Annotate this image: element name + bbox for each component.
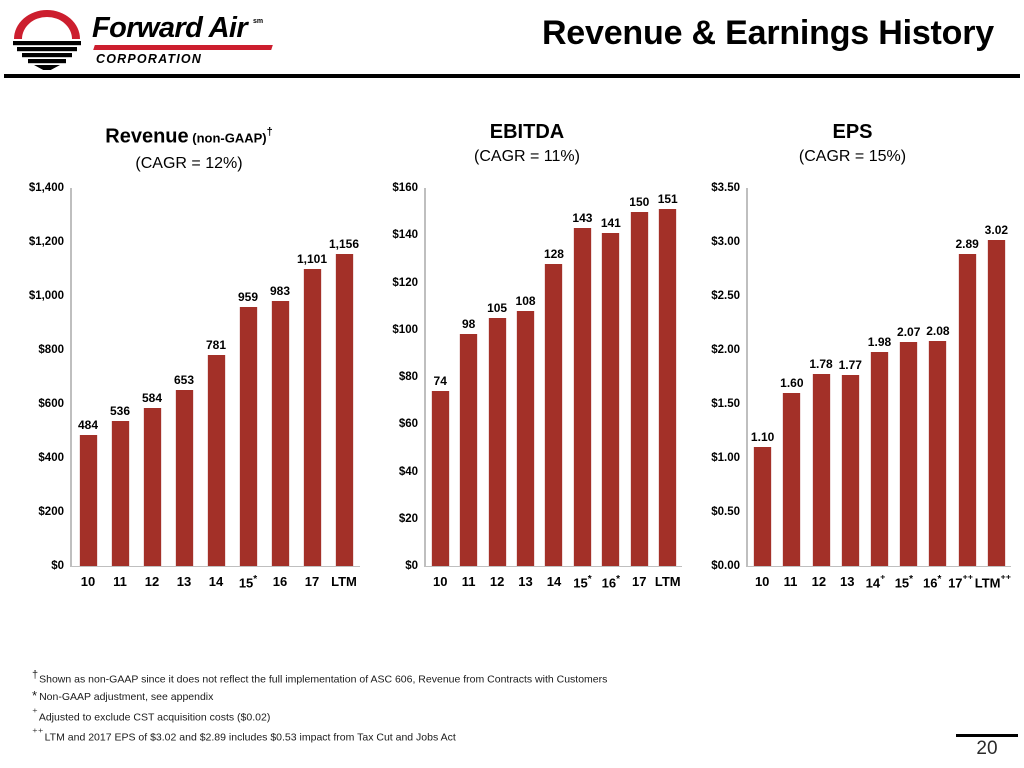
x-axis-tick-label: LTM⁺⁺ — [975, 574, 1011, 590]
bar[interactable] — [488, 318, 507, 566]
logo-servicemark: sm — [253, 18, 263, 25]
bar-slot: 1,156 — [328, 188, 360, 566]
page-number: 20 — [956, 738, 1018, 760]
x-axis-tick-label: 17⁺⁺ — [946, 574, 974, 590]
bar[interactable] — [899, 342, 918, 566]
bar-value-label: 74 — [434, 374, 447, 388]
bar-slot: 1,101 — [296, 188, 328, 566]
y-axis-tick-label: $800 — [38, 344, 64, 356]
bar-slot: 2.07 — [894, 188, 923, 566]
y-axis-tick-label: $120 — [392, 277, 418, 289]
x-axis-tick-label: 10 — [72, 574, 104, 590]
x-axis-tick-label: 15* — [232, 574, 264, 590]
x-axis-tick-label: 10 — [426, 574, 454, 590]
bar-value-label: 983 — [270, 284, 290, 298]
y-axis-ebitda: $0$20$40$60$80$100$120$140$160 — [368, 188, 422, 566]
y-axis-tick-label: $80 — [399, 371, 418, 383]
x-axis-tick-label: LTM — [654, 574, 682, 590]
bar[interactable] — [987, 240, 1006, 566]
logo-wordmark: Forward Air sm CORPORATION — [92, 12, 278, 68]
bar[interactable] — [459, 334, 478, 566]
y-axis-tick-label: $1.50 — [711, 398, 740, 410]
x-axis-tick-label: 16 — [264, 574, 296, 590]
bar-slot: 74 — [426, 188, 454, 566]
x-axis-tick-label: 14 — [200, 574, 232, 590]
chart-subtitle-ebitda: (CAGR = 11%) — [368, 146, 686, 168]
y-axis-tick-label: $1,200 — [29, 236, 64, 248]
bar[interactable] — [431, 391, 450, 566]
x-axis-tick-label: 13 — [168, 574, 200, 590]
x-axis-tick-label: 12 — [136, 574, 168, 590]
bar-slot: 1.98 — [865, 188, 894, 566]
x-axis-tick-label: 15* — [568, 574, 596, 590]
y-axis-tick-label: $40 — [399, 466, 418, 478]
bar-slot: 484 — [72, 188, 104, 566]
x-axis-tick-label: 12 — [483, 574, 511, 590]
y-axis-tick-label: $0.00 — [711, 560, 740, 572]
footnote-text: Adjusted to exclude CST acquisition cost… — [39, 711, 271, 723]
bar-slot: 653 — [168, 188, 200, 566]
bar[interactable] — [928, 341, 947, 566]
bar-slot: 98 — [454, 188, 482, 566]
bar-slot: 584 — [136, 188, 168, 566]
bar[interactable] — [79, 435, 98, 566]
chart-panel-revenue: Revenue (non-GAAP)† (CAGR = 12%) $0$200$… — [14, 120, 364, 620]
logo-red-underline — [93, 45, 273, 50]
y-axis-tick-label: $160 — [392, 182, 418, 194]
bar-value-label: 1,156 — [329, 237, 359, 251]
chart-title-ebitda: EBITDA — [368, 120, 686, 144]
y-axis-tick-label: $0.50 — [711, 506, 740, 518]
y-axis-tick-label: $2.50 — [711, 290, 740, 302]
x-axis-line-eps — [746, 566, 1011, 567]
footnote-text: LTM and 2017 EPS of $3.02 and $2.89 incl… — [45, 731, 456, 743]
x-axis-revenue: 101112131415*1617LTM — [72, 574, 360, 590]
bar-value-label: 653 — [174, 373, 194, 387]
bar-value-label: 151 — [658, 192, 678, 206]
x-axis-eps: 1011121314⁺15*16*17⁺⁺LTM⁺⁺ — [748, 574, 1011, 590]
x-axis-line-revenue — [70, 566, 360, 567]
bar-slot: 151 — [654, 188, 682, 566]
x-axis-tick-label: 11 — [454, 574, 482, 590]
bar[interactable] — [207, 355, 226, 566]
bar[interactable] — [143, 408, 162, 566]
plot-area-eps: $0.00$0.50$1.00$1.50$2.00$2.50$3.00$3.50… — [690, 188, 1015, 578]
y-axis-tick-label: $3.00 — [711, 236, 740, 248]
x-axis-tick-label: 15* — [890, 574, 918, 590]
bar-value-label: 1.77 — [839, 358, 862, 372]
y-axis-tick-label: $140 — [392, 229, 418, 241]
bar[interactable] — [239, 307, 258, 566]
bar[interactable] — [516, 311, 535, 566]
bar-value-label: 105 — [487, 301, 507, 315]
bar-slot: 108 — [511, 188, 539, 566]
x-axis-tick-label: 14 — [540, 574, 568, 590]
y-axis-tick-label: $100 — [392, 324, 418, 336]
bar[interactable] — [544, 264, 563, 566]
bar-value-label: 128 — [544, 247, 564, 261]
y-axis-tick-label: $3.50 — [711, 182, 740, 194]
bar[interactable] — [175, 390, 194, 566]
bar[interactable] — [335, 254, 354, 566]
bar-slot: 128 — [540, 188, 568, 566]
bar-slot: 1.77 — [836, 188, 865, 566]
chart-subtitle-eps: (CAGR = 15%) — [690, 146, 1015, 168]
bar-slot: 983 — [264, 188, 296, 566]
footnote: †Shown as non-GAAP since it does not ref… — [32, 668, 752, 688]
y-axis-tick-label: $200 — [38, 506, 64, 518]
bar[interactable] — [782, 393, 801, 566]
bar-value-label: 141 — [601, 216, 621, 230]
bar-slot: 2.08 — [923, 188, 952, 566]
chart-title-main: Revenue — [105, 126, 188, 148]
bar-slot: 2.89 — [953, 188, 982, 566]
chart-panel-ebitda: EBITDA (CAGR = 11%) $0$20$40$60$80$100$1… — [368, 120, 686, 620]
bar-value-label: 1.10 — [751, 430, 774, 444]
chart-title-revenue: Revenue (non-GAAP)† — [14, 120, 364, 151]
footnote: ⁺Adjusted to exclude CST acquisition cos… — [32, 706, 752, 726]
bar[interactable] — [601, 233, 620, 566]
bar-value-label: 584 — [142, 391, 162, 405]
footnote-marker: ⁺ — [32, 707, 39, 719]
bar-slot: 959 — [232, 188, 264, 566]
y-axis-tick-label: $0 — [51, 560, 64, 572]
bar-slot: 1.10 — [748, 188, 777, 566]
bar-value-label: 108 — [516, 294, 536, 308]
bar-value-label: 1.60 — [780, 376, 803, 390]
y-axis-eps: $0.00$0.50$1.00$1.50$2.00$2.50$3.00$3.50 — [690, 188, 744, 566]
chart-title-eps: EPS — [690, 120, 1015, 144]
x-axis-ebitda: 101112131415*16*17LTM — [426, 574, 682, 590]
bar-group-eps: 1.101.601.781.771.982.072.082.893.02 — [748, 188, 1011, 566]
footnote-marker: * — [32, 688, 39, 703]
logo-subtext: CORPORATION — [96, 52, 202, 66]
bar-value-label: 150 — [629, 195, 649, 209]
bar-slot: 1.78 — [806, 188, 835, 566]
y-axis-tick-label: $0 — [405, 560, 418, 572]
chart-title-footnote-mark: † — [267, 126, 273, 138]
bar-value-label: 484 — [78, 418, 98, 432]
y-axis-tick-label: $60 — [399, 418, 418, 430]
footnote: *Non-GAAP adjustment, see appendix — [32, 688, 752, 706]
plot-area-ebitda: $0$20$40$60$80$100$120$140$160 749810510… — [368, 188, 686, 578]
bar[interactable] — [841, 375, 860, 566]
bar-value-label: 98 — [462, 317, 475, 331]
bar-slot: 781 — [200, 188, 232, 566]
bar[interactable] — [870, 352, 889, 566]
bar[interactable] — [958, 254, 977, 566]
bar-slot: 143 — [568, 188, 596, 566]
bar-value-label: 3.02 — [985, 223, 1008, 237]
bar-value-label: 1.78 — [809, 357, 832, 371]
footnote: ⁺⁺LTM and 2017 EPS of $3.02 and $2.89 in… — [32, 726, 752, 746]
bar-slot: 105 — [483, 188, 511, 566]
page-title: Revenue & Earnings History — [542, 14, 994, 53]
chart-title-qualifier: (non-GAAP) — [192, 131, 266, 146]
x-axis-tick-label: 12 — [805, 574, 833, 590]
y-axis-tick-label: $1,400 — [29, 182, 64, 194]
x-axis-tick-label: 13 — [511, 574, 539, 590]
x-axis-tick-label: 16* — [918, 574, 946, 590]
bar-slot: 1.60 — [777, 188, 806, 566]
chart-subtitle-revenue: (CAGR = 12%) — [14, 153, 364, 175]
company-logo: Forward Air sm CORPORATION — [8, 4, 278, 72]
plot-area-revenue: $0$200$400$600$800$1,000$1,200$1,400 484… — [14, 188, 364, 578]
bar-slot: 536 — [104, 188, 136, 566]
bar[interactable] — [630, 212, 649, 566]
x-axis-tick-label: 17 — [296, 574, 328, 590]
y-axis-tick-label: $2.00 — [711, 344, 740, 356]
bar-slot: 150 — [625, 188, 653, 566]
bar[interactable] — [573, 228, 592, 566]
y-axis-tick-label: $600 — [38, 398, 64, 410]
y-axis-revenue: $0$200$400$600$800$1,000$1,200$1,400 — [14, 188, 68, 566]
bar-value-label: 2.89 — [955, 237, 978, 251]
chart-panel-eps: EPS (CAGR = 15%) $0.00$0.50$1.00$1.50$2.… — [690, 120, 1015, 620]
footnote-text: Non-GAAP adjustment, see appendix — [39, 691, 213, 703]
bar-slot: 141 — [597, 188, 625, 566]
bar[interactable] — [658, 209, 677, 566]
footnote-marker: ⁺⁺ — [32, 727, 45, 739]
x-axis-tick-label: 11 — [776, 574, 804, 590]
bar-value-label: 781 — [206, 338, 226, 352]
x-axis-tick-label: 13 — [833, 574, 861, 590]
x-axis-tick-label: 11 — [104, 574, 136, 590]
bar[interactable] — [111, 421, 130, 566]
bar-value-label: 143 — [572, 211, 592, 225]
bar[interactable] — [753, 447, 772, 566]
forward-air-logo-icon — [10, 6, 92, 70]
bar-value-label: 536 — [110, 404, 130, 418]
x-axis-tick-label: 16* — [597, 574, 625, 590]
slide-header: Forward Air sm CORPORATION Revenue & Ear… — [0, 0, 1024, 80]
header-divider — [4, 74, 1020, 78]
bar-value-label: 2.08 — [926, 324, 949, 338]
bar-group-revenue: 4845365846537819599831,1011,156 — [72, 188, 360, 566]
y-axis-tick-label: $20 — [399, 513, 418, 525]
bar-slot: 3.02 — [982, 188, 1011, 566]
bar-value-label: 2.07 — [897, 325, 920, 339]
x-axis-tick-label: 14⁺ — [861, 574, 889, 590]
bar[interactable] — [271, 301, 290, 566]
footnotes: †Shown as non-GAAP since it does not ref… — [32, 668, 752, 746]
x-axis-tick-label: 17 — [625, 574, 653, 590]
bar[interactable] — [303, 269, 322, 566]
x-axis-tick-label: LTM — [328, 574, 360, 590]
bar-value-label: 959 — [238, 290, 258, 304]
bar-group-ebitda: 7498105108128143141150151 — [426, 188, 682, 566]
y-axis-tick-label: $1,000 — [29, 290, 64, 302]
bar-value-label: 1.98 — [868, 335, 891, 349]
bar[interactable] — [812, 374, 831, 566]
footnote-text: Shown as non-GAAP since it does not refl… — [39, 674, 607, 686]
y-axis-tick-label: $1.00 — [711, 452, 740, 464]
logo-wordmark-text: Forward Air — [92, 12, 247, 45]
footer-divider — [956, 734, 1018, 737]
y-axis-tick-label: $400 — [38, 452, 64, 464]
x-axis-line-ebitda — [424, 566, 682, 567]
bar-value-label: 1,101 — [297, 252, 327, 266]
x-axis-tick-label: 10 — [748, 574, 776, 590]
